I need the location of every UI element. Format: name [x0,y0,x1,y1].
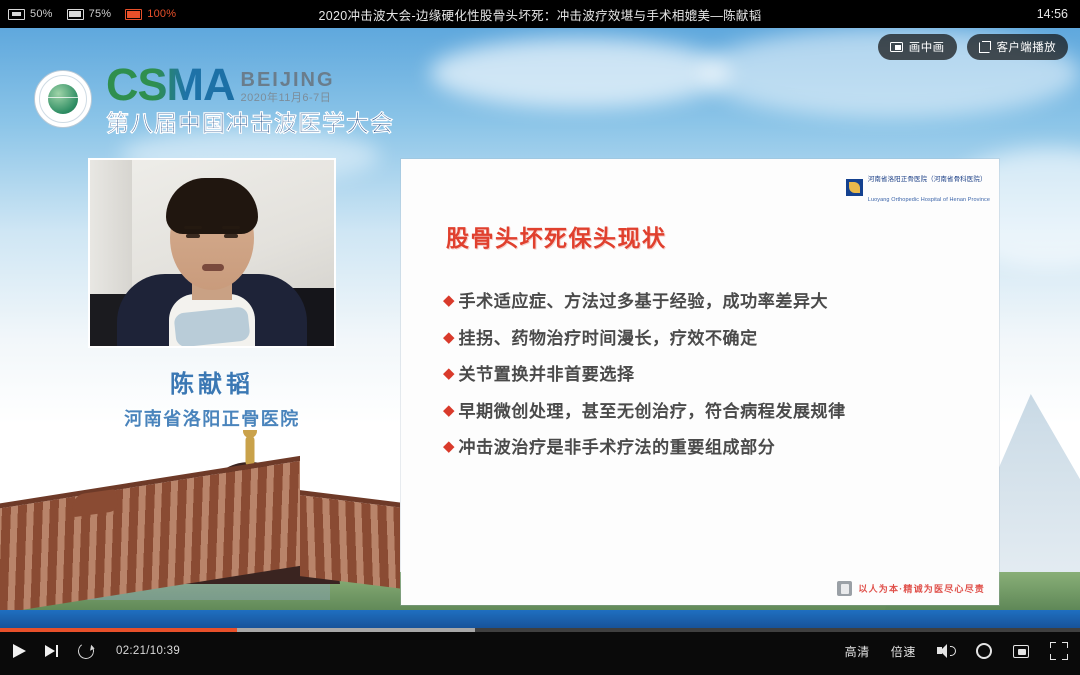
list-item: ◆ 冲击波治疗是非手术疗法的重要组成部分 [443,438,975,458]
cloud-decoration [430,38,730,108]
time-display: 02:21/10:39 [116,645,180,657]
speaker-organization: 河南省洛阳正骨医院 [88,405,336,431]
speaker-eye [224,234,238,238]
list-item: ◆ 手术适应症、方法过多基于经验，成功率差异大 [443,292,975,312]
zoom-75-icon [67,9,84,20]
player-controls-right: 高清 倍速 [845,642,1068,660]
zoom-level-group: 50% 75% 100% [0,8,176,20]
speaker-webcam-video [88,158,336,348]
quality-button[interactable]: 高清 [845,643,870,660]
speaker-eye [186,234,200,238]
stage-button-group: 画中画 客户端播放 [878,34,1068,60]
volume-icon[interactable] [937,642,955,660]
picture-in-picture-icon [890,42,903,52]
bullet-marker-icon: ◆ [443,438,455,455]
speaker-name: 陈献韬 [88,364,336,399]
progress-bar[interactable] [0,628,1080,632]
video-stage[interactable]: 画中画 客户端播放 CSMA BEIJING 2020年11月6-7日 [0,28,1080,628]
play-button[interactable] [10,642,28,660]
hospital-logo: 河南省洛阳正骨医院（河南省骨科医院） Luoyang Orthopedic Ho… [846,167,990,207]
zoom-level-75[interactable]: 75% [67,8,112,20]
footer-mark-icon [837,581,852,596]
csma-seal-icon [34,70,92,128]
slide-title: 股骨头坏死保头现状 [446,219,667,253]
temple-of-heaven-artwork [0,430,400,610]
hospital-mark-icon [846,179,863,196]
bullet-text: 手术适应症、方法过多基于经验，成功率差异大 [459,292,829,312]
video-player-window: 50% 75% 100% 2020冲击波大会-边缘硬化性股骨头坏死：冲击波疗效堪… [0,0,1080,675]
slide-bullet-list: ◆ 手术适应症、方法过多基于经验，成功率差异大 ◆ 挂拐、药物治疗时间漫长，疗效… [443,292,975,475]
bullet-marker-icon: ◆ [443,365,455,382]
slide-footer: 以人为本·精诚为医尽心尽责 [837,581,985,596]
player-controls-left: 02:21/10:39 [10,642,180,660]
zoom-50-icon [8,9,25,20]
speaker-mouth [202,264,224,271]
loop-button[interactable] [77,642,96,661]
next-button[interactable] [44,642,62,660]
client-playback-label: 客户端播放 [997,39,1057,55]
picture-in-picture-label: 画中画 [909,39,945,55]
conference-date: 2020年11月6-7日 [241,93,335,104]
external-window-icon [979,41,991,53]
zoom-level-50-label: 50% [30,8,53,20]
zoom-level-50[interactable]: 50% [8,8,53,20]
clock: 14:56 [1037,7,1068,21]
zoom-level-75-label: 75% [89,8,112,20]
bullet-marker-icon: ◆ [443,329,455,346]
bullet-text: 冲击波治疗是非手术疗法的重要组成部分 [459,438,776,458]
gear-icon[interactable] [976,643,992,659]
zoom-level-100[interactable]: 100% [125,8,176,20]
pip-icon[interactable] [1013,645,1029,658]
presentation-slide: 河南省洛阳正骨医院（河南省骨科医院） Luoyang Orthopedic Ho… [401,159,999,605]
zoom-100-icon [125,9,142,20]
bullet-text: 挂拐、药物治疗时间漫长，疗效不确定 [459,329,758,349]
conference-city: BEIJING [241,70,335,90]
playback-speed-button[interactable]: 倍速 [891,643,916,660]
slide-footer-text: 以人为本·精诚为医尽心尽责 [858,582,985,595]
picture-in-picture-button[interactable]: 画中画 [878,34,957,60]
blue-band-decoration [0,610,1080,628]
list-item: ◆ 关节置换并非首要选择 [443,365,975,385]
bullet-marker-icon: ◆ [443,292,455,309]
list-item: ◆ 挂拐、药物治疗时间漫长，疗效不确定 [443,329,975,349]
fullscreen-icon[interactable] [1050,642,1068,660]
globe-icon [48,84,78,114]
speaker-caption: 陈献韬 河南省洛阳正骨医院 [88,364,336,431]
bullet-text: 早期微创处理，甚至无创治疗，符合病程发展规律 [459,402,846,422]
conference-full-name: 第八届中国冲击波医学大会 [106,112,394,135]
speaker-hair [166,178,258,234]
progress-played [0,628,237,632]
list-item: ◆ 早期微创处理，甚至无创治疗，符合病程发展规律 [443,402,975,422]
bullet-text: 关节置换并非首要选择 [459,365,635,385]
player-control-bar: 02:21/10:39 高清 倍速 [0,628,1080,675]
hospital-name-en: Luoyang Orthopedic Hospital of Henan Pro… [868,197,990,203]
bullet-marker-icon: ◆ [443,402,455,419]
client-playback-button[interactable]: 客户端播放 [967,34,1069,60]
conference-acronym: CSMA [106,62,235,107]
conference-branding: CSMA BEIJING 2020年11月6-7日 第八届中国冲击波医学大会 [34,62,394,135]
speaker-eyebrow [184,226,202,229]
hospital-name-cn: 河南省洛阳正骨医院（河南省骨科医院） [868,176,987,183]
zoom-level-100-label: 100% [147,8,176,20]
title-bar: 50% 75% 100% 2020冲击波大会-边缘硬化性股骨头坏死：冲击波疗效堪… [0,0,1080,28]
speaker-eyebrow [222,226,240,229]
